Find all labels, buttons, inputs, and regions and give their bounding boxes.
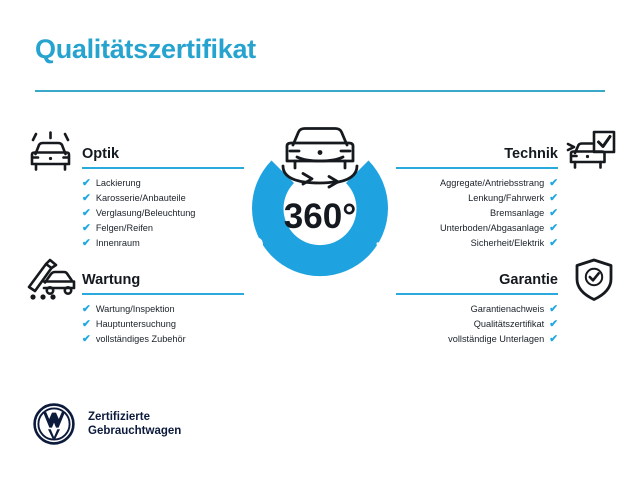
- list-item: ✔ Sicherheit/Elektrik: [396, 236, 558, 251]
- list-item: ✔ Innenraum: [82, 236, 244, 251]
- 360-gebrauchtwagen-check-badge: Gebrauchtwagen-Check 360°: [225, 113, 415, 305]
- section-heading-wartung: Wartung: [82, 272, 244, 288]
- car-rotate-360-icon: [283, 129, 357, 188]
- list-item: ✔ Lenkung/Fahrwerk: [396, 191, 558, 206]
- section-heading-garantie: Garantie: [396, 272, 558, 288]
- check-icon: ✔: [82, 193, 91, 204]
- badge-center-label: 360°: [284, 197, 356, 236]
- check-icon: ✔: [549, 319, 558, 330]
- checklist-garantie: ✔ Garantienachweis ✔ Qualitätszertifikat…: [396, 302, 558, 347]
- check-icon: ✔: [82, 238, 91, 249]
- list-item-label: Qualitätszertifikat: [474, 317, 544, 332]
- section-heading-optik: Optik: [82, 146, 244, 162]
- list-item: ✔ Felgen/Reifen: [82, 221, 244, 236]
- footer-line-2: Gebrauchtwagen: [88, 424, 181, 438]
- footer-text: Zertifizierte Gebrauchtwagen: [88, 410, 181, 438]
- checklist-optik: ✔ Lackierung ✔ Karosserie/Anbauteile ✔ V…: [82, 176, 244, 251]
- shield-check-icon: [573, 258, 615, 302]
- list-item: ✔ Unterboden/Abgasanlage: [396, 221, 558, 236]
- section-heading-technik: Technik: [396, 146, 558, 162]
- vw-logo-icon: [33, 403, 75, 445]
- check-icon: ✔: [82, 319, 91, 330]
- section-technik: Technik ✔ Aggregate/Antriebsstrang ✔ Len…: [396, 146, 558, 251]
- list-item: ✔ Aggregate/Antriebsstrang: [396, 176, 558, 191]
- section-divider-wartung: [82, 293, 244, 295]
- list-item: ✔ Bremsanlage: [396, 206, 558, 221]
- list-item: ✔ vollständige Unterlagen: [396, 332, 558, 347]
- section-wartung: Wartung ✔ Wartung/Inspektion ✔ Hauptunte…: [82, 272, 244, 347]
- list-item: ✔ Wartung/Inspektion: [82, 302, 244, 317]
- list-item-label: Felgen/Reifen: [96, 221, 153, 236]
- check-icon: ✔: [549, 334, 558, 345]
- section-divider-garantie: [396, 293, 558, 295]
- list-item-label: Garantienachweis: [471, 302, 545, 317]
- certificate-page: Qualitätszertifikat: [0, 0, 640, 480]
- checklist-technik: ✔ Aggregate/Antriebsstrang ✔ Lenkung/Fah…: [396, 176, 558, 251]
- list-item: ✔ vollständiges Zubehör: [82, 332, 244, 347]
- list-item: ✔ Hauptuntersuchung: [82, 317, 244, 332]
- car-shine-icon: [27, 131, 75, 173]
- check-icon: ✔: [82, 208, 91, 219]
- check-icon: ✔: [549, 178, 558, 189]
- list-item-label: Innenraum: [96, 236, 140, 251]
- list-item-label: Verglasung/Beleuchtung: [96, 206, 196, 221]
- check-icon: ✔: [549, 238, 558, 249]
- list-item: ✔ Karosserie/Anbauteile: [82, 191, 244, 206]
- list-item-label: Unterboden/Abgasanlage: [440, 221, 544, 236]
- section-divider-technik: [396, 167, 558, 169]
- check-icon: ✔: [549, 208, 558, 219]
- page-title: Qualitätszertifikat: [35, 34, 256, 65]
- section-divider-optik: [82, 167, 244, 169]
- list-item: ✔ Verglasung/Beleuchtung: [82, 206, 244, 221]
- list-item-label: vollständige Unterlagen: [448, 332, 544, 347]
- list-item: ✔ Qualitätszertifikat: [396, 317, 558, 332]
- list-item-label: Lenkung/Fahrwerk: [468, 191, 544, 206]
- check-icon: ✔: [549, 304, 558, 315]
- check-icon: ✔: [82, 334, 91, 345]
- footer-branding: Zertifizierte Gebrauchtwagen: [33, 403, 181, 445]
- list-item: ✔ Garantienachweis: [396, 302, 558, 317]
- check-icon: ✔: [82, 304, 91, 315]
- title-divider: [35, 90, 605, 92]
- checklist-wartung: ✔ Wartung/Inspektion ✔ Hauptuntersuchung…: [82, 302, 244, 347]
- check-icon: ✔: [549, 223, 558, 234]
- list-item-label: Wartung/Inspektion: [96, 302, 175, 317]
- footer-line-1: Zertifizierte: [88, 410, 181, 424]
- list-item: ✔ Lackierung: [82, 176, 244, 191]
- section-garantie: Garantie ✔ Garantienachweis ✔ Qualitätsz…: [396, 272, 558, 347]
- check-icon: ✔: [82, 178, 91, 189]
- list-item-label: Hauptuntersuchung: [96, 317, 176, 332]
- list-item-label: Karosserie/Anbauteile: [96, 191, 186, 206]
- check-icon: ✔: [549, 193, 558, 204]
- check-icon: ✔: [82, 223, 91, 234]
- list-item-label: Bremsanlage: [490, 206, 544, 221]
- list-item-label: Sicherheit/Elektrik: [471, 236, 545, 251]
- list-item-label: vollständiges Zubehör: [96, 332, 186, 347]
- section-optik: Optik ✔ Lackierung ✔ Karosserie/Anbautei…: [82, 146, 244, 251]
- list-item-label: Lackierung: [96, 176, 141, 191]
- car-checkbox-icon: [566, 130, 616, 174]
- car-service-tool-icon: [25, 257, 77, 301]
- list-item-label: Aggregate/Antriebsstrang: [440, 176, 544, 191]
